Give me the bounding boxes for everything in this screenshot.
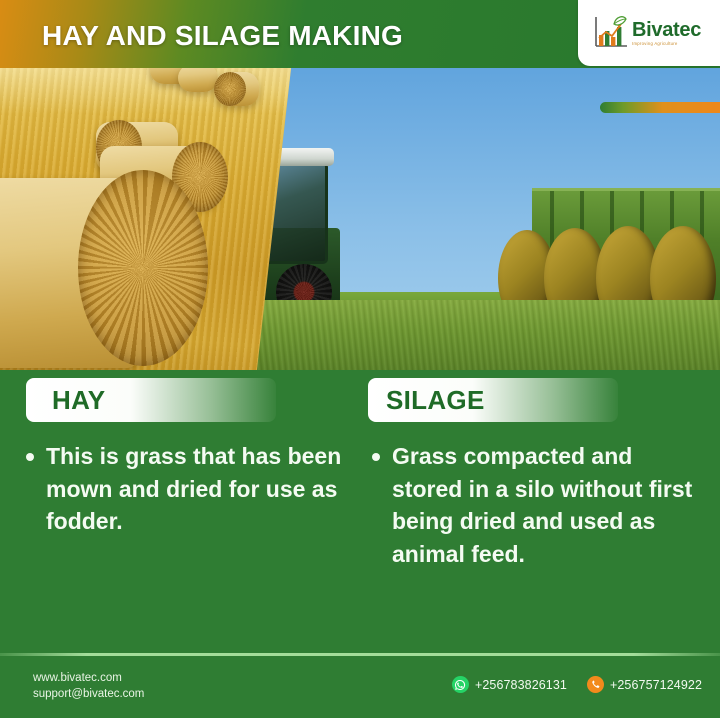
section-title-hay: HAY: [52, 385, 105, 416]
whatsapp-number: +256783826131: [475, 678, 567, 692]
whatsapp-icon: [452, 676, 469, 693]
logo-name: Bivatec: [632, 20, 701, 40]
list-item: This is grass that has been mown and dri…: [22, 440, 342, 538]
phone-icon: [587, 676, 604, 693]
bullet-list-silage: Grass compacted and stored in a silo wit…: [360, 440, 720, 571]
definition-columns: HAY This is grass that has been mown and…: [0, 370, 720, 571]
bullet-list-hay: This is grass that has been mown and dri…: [0, 440, 360, 538]
brand-logo[interactable]: Bivatec Improving Agriculture: [578, 0, 720, 66]
poster: HAY AND SILAGE MAKING Bivatec: [0, 0, 720, 718]
email-link[interactable]: support@bivatec.com: [33, 686, 144, 702]
hay-bale: [178, 64, 218, 92]
hay-bale-face: [78, 170, 208, 366]
section-header-hay: HAY: [26, 378, 276, 422]
hay-bale-face: [214, 72, 246, 106]
website-link[interactable]: www.bivatec.com: [33, 670, 144, 686]
footer-phone-block: +256783826131 +256757124922: [452, 676, 702, 693]
column-hay: HAY This is grass that has been mown and…: [0, 370, 360, 571]
column-silage: SILAGE Grass compacted and stored in a s…: [360, 370, 720, 571]
hero-photo-band: [0, 60, 720, 378]
section-header-silage: SILAGE: [368, 378, 618, 422]
whatsapp-contact[interactable]: +256783826131: [452, 676, 567, 693]
phone-number: +256757124922: [610, 678, 702, 692]
bar-chart-leaf-logo-icon: [590, 13, 630, 53]
list-item: Grass compacted and stored in a silo wit…: [368, 440, 696, 571]
logo-tagline: Improving Agriculture: [632, 42, 701, 46]
footer-contact-block: www.bivatec.com support@bivatec.com: [33, 670, 144, 703]
accent-gradient-bar: [600, 102, 720, 113]
section-title-silage: SILAGE: [386, 385, 485, 416]
phone-contact[interactable]: +256757124922: [587, 676, 702, 693]
page-title: HAY AND SILAGE MAKING: [42, 20, 403, 52]
footer-bar: www.bivatec.com support@bivatec.com +256…: [0, 656, 720, 718]
